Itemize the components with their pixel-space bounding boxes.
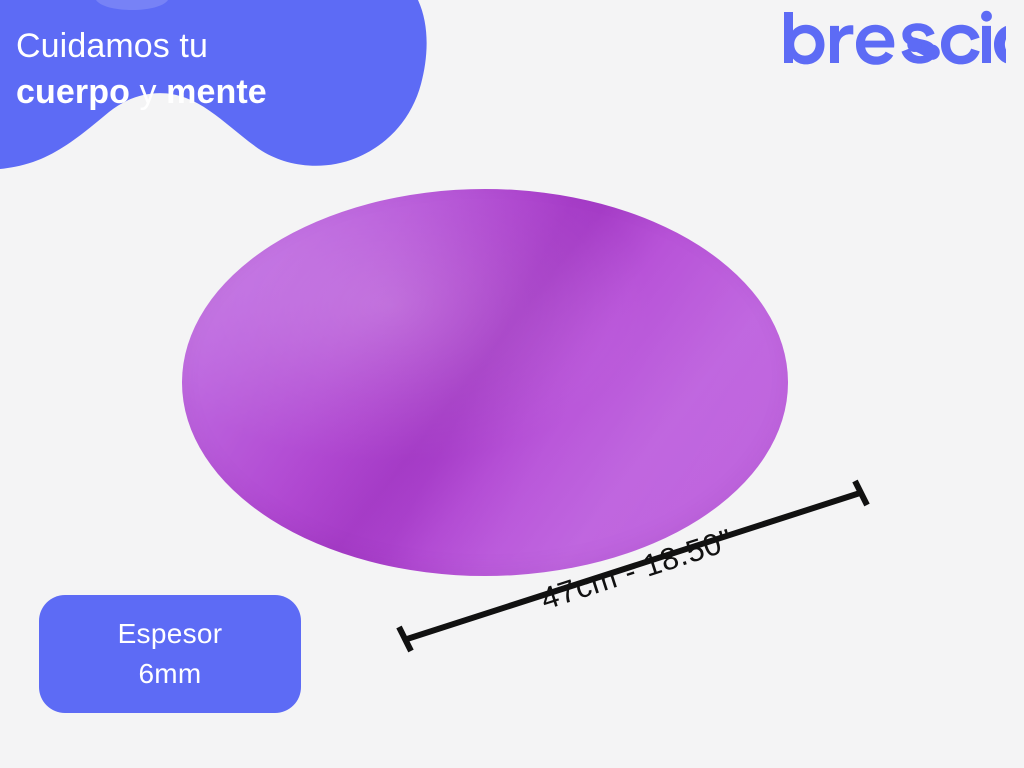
headline-bold-mente: mente (166, 73, 267, 111)
thickness-badge: Espesor 6mm (39, 595, 301, 713)
disc-sheen-overlay (182, 189, 788, 576)
brescia-logo-wordmark (784, 11, 1006, 65)
headline-line-2: cuerpo y mente (16, 72, 416, 112)
brescia-logo (778, 8, 1006, 70)
thickness-badge-value: 6mm (138, 657, 201, 691)
hero-blob-highlight (96, 0, 168, 10)
dimension-tick-left (399, 627, 411, 651)
product-disc (182, 189, 788, 576)
headline-conjunction: y (130, 73, 166, 111)
headline-bold-cuerpo: cuerpo (16, 73, 130, 111)
hero-headline: Cuidamos tu cuerpo y mente (16, 26, 416, 112)
dimension-tick-right (855, 481, 867, 505)
product-graphic-canvas: Cuidamos tu cuerpo y mente (0, 0, 1024, 768)
headline-line-1: Cuidamos tu (16, 26, 416, 66)
thickness-badge-title: Espesor (118, 617, 223, 651)
